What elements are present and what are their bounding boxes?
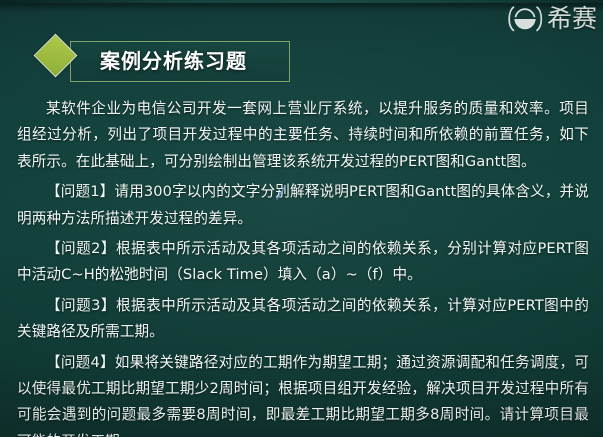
paragraph-question-3: 【问题3】根据表中所示活动及其各项活动之间的依赖关系，计算对应PERT图中的关键…: [17, 293, 589, 346]
page-title: 案例分析练习题: [100, 48, 247, 74]
brand-logo-text: 希赛: [547, 5, 597, 33]
paragraph-intro: 某软件企业为电信公司开发一套网上营业厅系统，以提升服务的质量和效率。项目组经过分…: [17, 96, 589, 175]
paragraph-question-2: 【问题2】根据表中所示活动及其各项活动之间的依赖关系，分别计算对应PERT图中活…: [17, 236, 589, 289]
slide-title-banner: 案例分析练习题: [40, 39, 292, 85]
slide-body: 某软件企业为电信公司开发一套网上营业厅系统，以提升服务的质量和效率。项目组经过分…: [17, 96, 589, 437]
paragraph-question-1: 【问题1】请用300字以内的文字分别解释说明PERT图和Gantt图的具体含义，…: [17, 179, 589, 232]
brand-logo: 希赛: [504, 4, 597, 34]
presentation-slide: 希赛 案例分析练习题 某软件企业为电信公司开发一套网上营业厅系统，以提升服务的质…: [0, 0, 603, 437]
xisai-circle-logo-icon: [504, 4, 546, 34]
paragraph-question-4: 【问题4】如果将关键路径对应的工期作为期望工期；通过资源调配和任务调度，可以使得…: [17, 350, 589, 437]
